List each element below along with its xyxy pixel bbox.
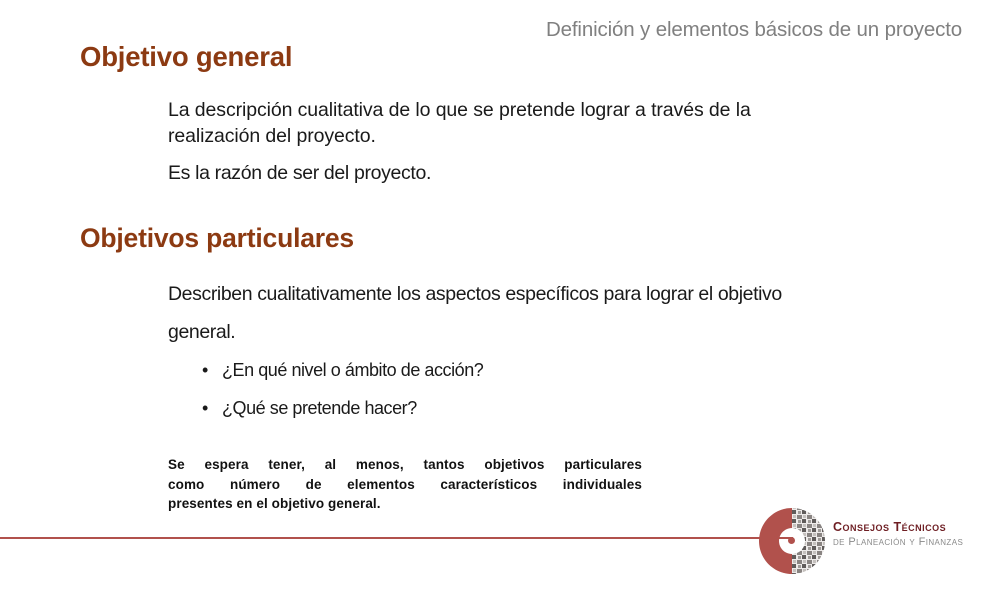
logo-title: Consejos Técnicos (833, 520, 963, 536)
paragraph-objetivo-general-descripcion: La descripción cualitativa de lo que se … (168, 97, 848, 149)
objetivos-particulares-bullet-list: • ¿En qué nivel o ámbito de acción? • ¿Q… (200, 359, 483, 434)
ring-collage-logo-icon (757, 506, 827, 576)
footer-divider-rule (0, 537, 793, 539)
list-item-label: ¿En qué nivel o ámbito de acción? (222, 360, 483, 380)
logo-center-dot-icon (788, 537, 795, 544)
bullet-dot-icon: • (202, 359, 208, 382)
section-heading-objetivos-particulares: Objetivos particulares (80, 223, 354, 254)
slide-running-header: Definición y elementos básicos de un pro… (300, 18, 962, 43)
list-item: • ¿En qué nivel o ámbito de acción? (200, 359, 483, 382)
slide-canvas: Definición y elementos básicos de un pro… (0, 0, 1000, 600)
paragraph-objetivo-general-razon: Es la razón de ser del proyecto. (168, 160, 848, 186)
note-block: Se espera tener, al menos, tantos objeti… (168, 455, 642, 514)
list-item: • ¿Qué se pretende hacer? (200, 397, 483, 420)
paragraph-objetivos-particulares-descripcion: Describen cualitativamente los aspectos … (168, 276, 848, 351)
logo-subtitle: de Planeación y Finanzas (833, 536, 963, 550)
note-line: como número de elementos característicos… (168, 475, 642, 495)
section-heading-objetivo-general: Objetivo general (80, 41, 292, 73)
bullet-dot-icon: • (202, 397, 208, 420)
note-line: presentes en el objetivo general. (168, 494, 642, 514)
logo-wordmark: Consejos Técnicos de Planeación y Finanz… (833, 520, 963, 549)
note-line: Se espera tener, al menos, tantos objeti… (168, 455, 642, 475)
list-item-label: ¿Qué se pretende hacer? (222, 398, 417, 418)
footer-logo: Consejos Técnicos de Planeación y Finanz… (757, 506, 987, 580)
